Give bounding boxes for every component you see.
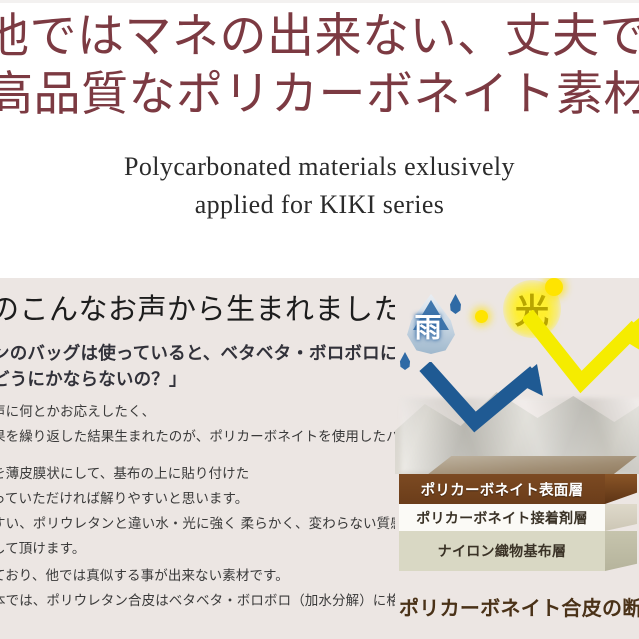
light-reflect-arrow-icon <box>523 310 639 396</box>
japanese-headline-line-2: 高品質なポリカーボネイト素材を使 <box>0 66 639 129</box>
body-text-line: して頂けます。 <box>0 537 85 557</box>
body-text-line: 本では、ポリウレタン合皮はベタベタ・ボロボロ（加水分解）に格になり <box>0 589 441 609</box>
layered-material-block: ポリカーボネイト表面層 ポリカーボネイト接着剤層 ナイロン織物基布層 <box>399 456 637 588</box>
customer-quote-line-1: ンのバッグは使っていると、ベタベタ・ボロボロに <box>0 340 398 365</box>
lead-heading: のこんなお声から生まれました。 <box>0 286 433 328</box>
top-divider <box>0 0 639 3</box>
sun-dot-icon <box>545 278 563 296</box>
english-tagline-line-2: applied for KIKI series <box>0 190 639 220</box>
english-tagline-line-1: Polycarbonated materials exlusively <box>0 152 639 182</box>
body-text-line: っていただければ解りやすいと思います。 <box>0 487 248 507</box>
japanese-headline-line-1: 他ではマネの出来ない、丈夫で <box>0 8 639 66</box>
body-text-line: すい、ポリウレタンと違い水・光に強く 柔らかく、変わらない質感で <box>0 512 417 532</box>
material-cross-section-illustration: 雨 光 ポリカーボネイト表面層 <box>395 278 639 639</box>
layer-polycarbonate-surface: ポリカーボネイト表面層 <box>399 474 605 504</box>
illustration-caption: ポリカーボネイト合皮の断 <box>399 592 639 621</box>
rain-label: 雨 <box>402 306 454 345</box>
layer-polycarbonate-adhesive: ポリカーボネイト接着剤層 <box>399 504 605 531</box>
layer-label: ポリカーボネイト表面層 <box>421 479 584 500</box>
advertisement-page: 他ではマネの出来ない、丈夫で 高品質なポリカーボネイト素材を使 Polycarb… <box>0 0 639 639</box>
layer-label: ポリカーボネイト接着剤層 <box>416 508 588 528</box>
japanese-headline-line-2-main: 高品質なポリカーボネイト素材 <box>0 69 639 121</box>
top-headline-panel: 他ではマネの出来ない、丈夫で 高品質なポリカーボネイト素材を使 Polycarb… <box>0 0 639 278</box>
customer-quote-line-2: どうにかならないの？」 <box>0 366 187 391</box>
layer-2-side-face <box>605 504 637 531</box>
bottom-content-panel: のこんなお声から生まれました。 ンのバッグは使っていると、ベタベタ・ボロボロに … <box>0 278 639 639</box>
body-text-line: 声に何とかお応えしたく、 <box>0 400 155 420</box>
sun-dot-icon <box>475 310 488 323</box>
body-text-line: ており、他では真似する事が出来ない素材です。 <box>0 564 289 584</box>
copy-column: のこんなお声から生まれました。 ンのバッグは使っていると、ベタベタ・ボロボロに … <box>0 278 412 639</box>
layer-1-side-face <box>605 474 637 504</box>
body-text-line: 果を繰り返した結果生まれたのが、ポリカーボネイトを使用したバッグで <box>0 425 441 445</box>
layer-3-side-face <box>605 531 637 571</box>
layer-nylon-base-fabric: ナイロン織物基布層 <box>399 531 605 571</box>
body-text-line: 力に使用するのは不向きだと考えます。 <box>0 635 235 639</box>
layer-label: ナイロン織物基布層 <box>438 541 567 561</box>
body-text-line: を薄皮膜状にして、基布の上に貼り付けた <box>0 462 249 482</box>
